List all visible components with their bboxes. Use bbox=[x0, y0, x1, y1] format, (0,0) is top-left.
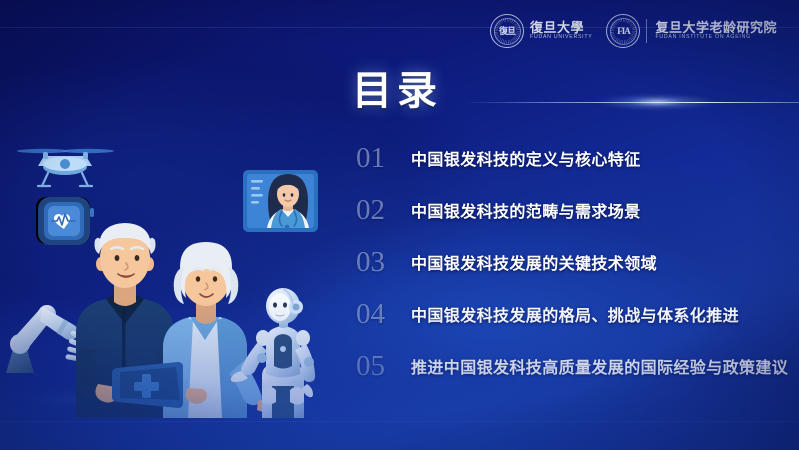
toc-item-04[interactable]: 04 中国银发科技发展的格局、挑战与体系化推进 bbox=[356, 288, 788, 340]
illustration-svg bbox=[0, 118, 340, 418]
title-block: 目录 bbox=[352, 71, 442, 111]
toc-label: 中国银发科技发展的格局、挑战与体系化推进 bbox=[411, 302, 739, 326]
doctor-avatar bbox=[267, 174, 309, 229]
logo-fudan-university: 復旦 復旦大學 FUDAN UNIVERSITY bbox=[490, 14, 592, 48]
toc-number: 05 bbox=[356, 352, 397, 381]
toc-number: 02 bbox=[356, 196, 397, 225]
logo-fudan-institute-on-ageing: FIA 复旦大学老龄研究院 FUDAN INSTITUTE ON AGEING bbox=[606, 14, 777, 48]
silver-tech-illustration bbox=[0, 118, 340, 418]
fudan-institute-on-ageing-seal-icon: FIA bbox=[606, 14, 640, 48]
logo-name-en: FUDAN UNIVERSITY bbox=[530, 35, 592, 41]
toc-label: 中国银发科技发展的关键技术领域 bbox=[411, 250, 657, 274]
logo-name-cn: 復旦大學 bbox=[530, 21, 592, 35]
drone-icon bbox=[17, 149, 114, 186]
frame-line-bottom bbox=[0, 421, 799, 422]
toc-number: 01 bbox=[356, 144, 397, 173]
toc-item-02[interactable]: 02 中国银发科技的范畴与需求场景 bbox=[356, 184, 788, 236]
fudan-university-seal-icon: 復旦 bbox=[490, 14, 524, 48]
logo-bar: 復旦 復旦大學 FUDAN UNIVERSITY FIA 复旦大学老龄研究院 F… bbox=[490, 14, 777, 48]
seal-ring-decoration bbox=[491, 15, 523, 47]
telemedicine-screen bbox=[243, 170, 318, 232]
slide-root: 復旦 復旦大學 FUDAN UNIVERSITY FIA 复旦大学老龄研究院 F… bbox=[0, 0, 799, 450]
toc-number: 04 bbox=[356, 300, 397, 329]
toc-label: 推进中国银发科技高质量发展的国际经验与政策建议 bbox=[411, 354, 788, 378]
table-of-contents: 01 中国银发科技的定义与核心特征 02 中国银发科技的范畴与需求场景 03 中… bbox=[356, 132, 788, 392]
flare-streak bbox=[464, 102, 799, 103]
logo-text-group: 復旦大學 FUDAN UNIVERSITY bbox=[530, 21, 592, 41]
robotic-arm bbox=[6, 305, 88, 373]
toc-number: 03 bbox=[356, 248, 397, 277]
toc-item-01[interactable]: 01 中国银发科技的定义与核心特征 bbox=[356, 132, 788, 184]
logo-divider bbox=[646, 19, 647, 43]
toc-item-03[interactable]: 03 中国银发科技发展的关键技术领域 bbox=[356, 236, 788, 288]
logo-name-en: FUDAN INSTITUTE ON AGEING bbox=[655, 35, 777, 41]
title-flare-decoration bbox=[464, 97, 799, 107]
smartwatch-icon bbox=[36, 197, 94, 245]
page-title: 目录 bbox=[352, 71, 442, 111]
toc-item-05[interactable]: 05 推进中国银发科技高质量发展的国际经验与政策建议 bbox=[356, 340, 788, 392]
toc-label: 中国银发科技的范畴与需求场景 bbox=[411, 198, 641, 222]
toc-label: 中国银发科技的定义与核心特征 bbox=[411, 146, 641, 170]
seal-ring-decoration bbox=[607, 15, 639, 47]
logo-name-cn: 复旦大学老龄研究院 bbox=[655, 21, 777, 35]
logo-text-group: 复旦大学老龄研究院 FUDAN INSTITUTE ON AGEING bbox=[655, 21, 777, 41]
tablet-device bbox=[112, 362, 183, 408]
flare-halo bbox=[597, 94, 717, 110]
